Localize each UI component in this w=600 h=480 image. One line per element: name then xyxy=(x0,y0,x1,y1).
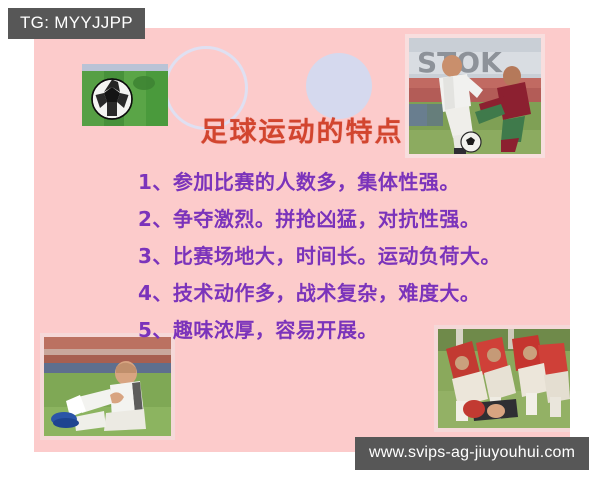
page-title: 足球运动的特点 xyxy=(34,110,570,149)
list-item: 1、参加比赛的人数多，集体性强。 xyxy=(138,164,568,201)
tg-watermark-badge: TG: MYYJJPP xyxy=(8,8,145,39)
list-item: 4、技术动作多，战术复杂，难度大。 xyxy=(138,275,568,312)
site-watermark-badge: www.svips-ag-jiuyouhui.com xyxy=(355,437,589,470)
list-item: 3、比赛场地大，时间长。运动负荷大。 xyxy=(138,238,568,275)
slide-canvas: STOK xyxy=(34,28,570,452)
photo-injured-player-sitting xyxy=(40,333,175,440)
list-item: 5、趣味浓厚，容易开展。 xyxy=(138,312,568,349)
bullet-list: 1、参加比赛的人数多，集体性强。 2、争夺激烈。拼抢凶猛，对抗性强。 3、比赛场… xyxy=(138,164,568,349)
list-item: 2、争夺激烈。拼抢凶猛，对抗性强。 xyxy=(138,201,568,238)
